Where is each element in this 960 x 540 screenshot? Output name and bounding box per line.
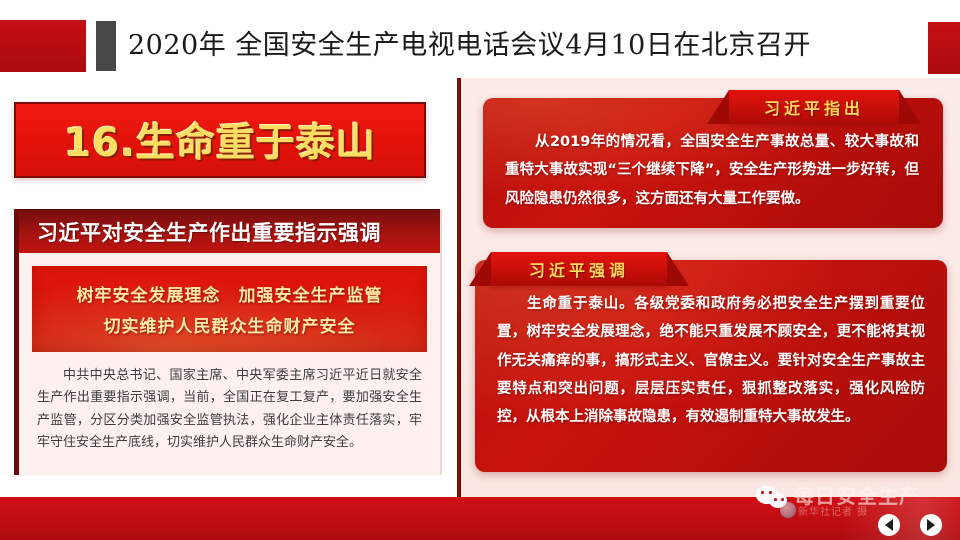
slogan-box: 树牢安全发展理念 加强安全生产监管 切实维护人民群众生命财产安全	[32, 266, 427, 352]
quote-block-emphasizes: 生命重于泰山。各级党委和政府务必把安全生产摆到重要位置，树牢安全发展理念，绝不能…	[475, 260, 947, 472]
chevron-right-icon	[927, 519, 935, 531]
slogan-line-1: 树牢安全发展理念 加强安全生产监管	[77, 281, 383, 306]
quote-block-emphasizes-text: 生命重于泰山。各级党委和政府务必把安全生产摆到重要位置，树牢安全发展理念，绝不能…	[497, 290, 925, 431]
left-panel: 16.生命重于泰山 习近平对安全生产作出重要指示强调 树牢安全发展理念 加强安全…	[0, 78, 457, 497]
slogan-line-2: 切实维护人民群众生命财产安全	[104, 312, 356, 337]
section-number-banner: 16.生命重于泰山	[14, 102, 426, 178]
ribbon-xi-points-out-label: 习近平指出	[764, 95, 864, 119]
next-slide-button[interactable]	[920, 514, 942, 536]
section-number-label: 16.生命重于泰山	[64, 112, 376, 168]
slide-navigation	[878, 514, 942, 536]
directive-card: 习近平对安全生产作出重要指示强调 树牢安全发展理念 加强安全生产监管 切实维护人…	[14, 209, 442, 475]
quote-block-points-out-text: 从2019年的情况看，全国安全生产事故总量、较大事故和重特大事故实现“三个继续下…	[505, 128, 919, 213]
header-gray-block	[96, 21, 116, 71]
directive-body-text: 中共中央总书记、国家主席、中央军委主席习近平近日就安全生产作出重要指示强调，当前…	[19, 352, 440, 454]
page-title: 2020年 全国安全生产电视电话会议4月10日在北京召开	[128, 22, 811, 70]
directive-card-title: 习近平对安全生产作出重要指示强调	[37, 217, 381, 247]
slide-canvas: 2020年 全国安全生产电视电话会议4月10日在北京召开 16.生命重于泰山 习…	[0, 0, 960, 540]
ribbon-xi-emphasizes: 习近平强调	[491, 252, 667, 286]
previous-slide-button[interactable]	[878, 514, 900, 536]
header-red-block-left	[0, 20, 86, 72]
watermark-credit: 新华社记者 摄	[798, 503, 868, 518]
header-red-block-right	[928, 22, 960, 74]
ribbon-xi-emphasizes-label: 习近平强调	[529, 257, 629, 281]
directive-card-header: 习近平对安全生产作出重要指示强调	[19, 209, 440, 253]
chevron-left-icon	[885, 519, 893, 531]
right-panel: 习近平指出 从2019年的情况看，全国安全生产事故总量、较大事故和重特大事故实现…	[461, 78, 960, 497]
ribbon-xi-points-out: 习近平指出	[729, 90, 899, 124]
